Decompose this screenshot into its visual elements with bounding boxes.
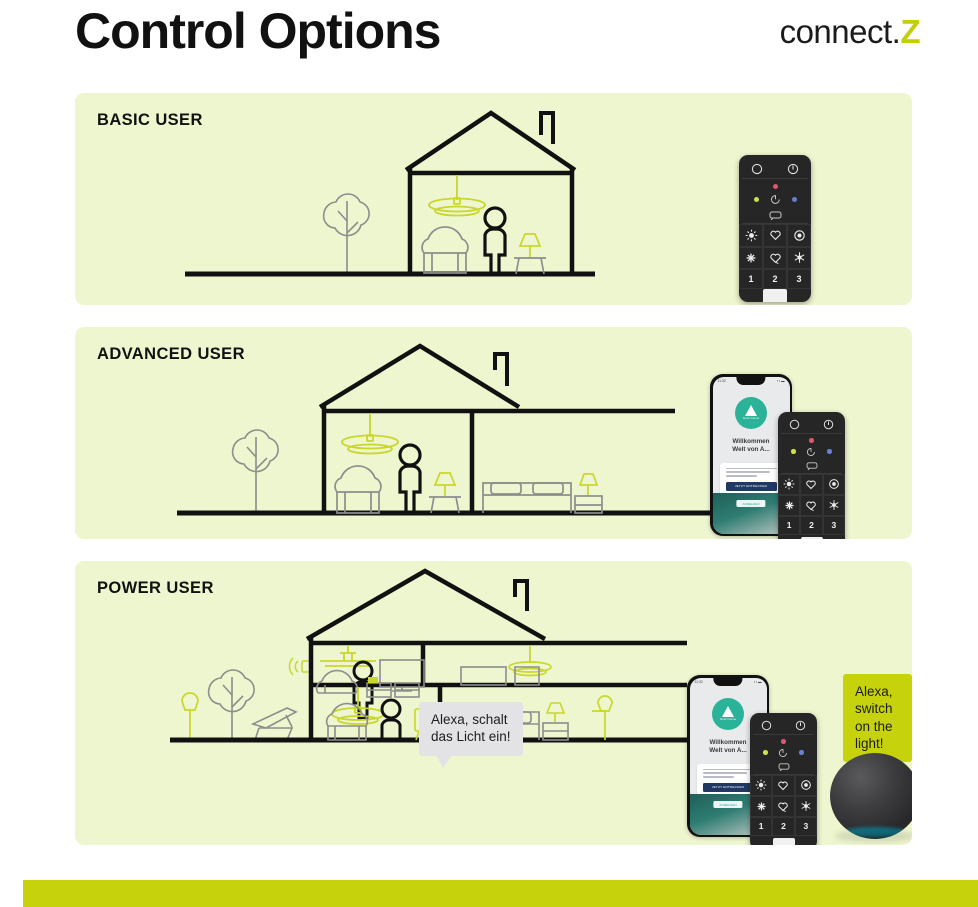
nightstand-lower-icon xyxy=(543,723,568,740)
echo-dot-body[interactable] xyxy=(830,753,912,839)
snowflake-icon xyxy=(800,800,812,812)
snowflake-button[interactable] xyxy=(823,495,845,516)
text-line xyxy=(726,468,777,470)
heart-button-1[interactable] xyxy=(772,775,794,796)
remote-color-dots[interactable] xyxy=(778,434,845,473)
remote-top-row[interactable] xyxy=(750,717,817,734)
heart-button-2[interactable] xyxy=(763,247,787,270)
plus-icon xyxy=(756,801,767,812)
armchair-icon xyxy=(422,227,468,273)
plus-icon xyxy=(745,252,757,264)
heart-minus-icon xyxy=(805,500,817,511)
pendant-lamp-icon xyxy=(429,175,485,216)
nightstand-lamp-icon xyxy=(580,474,597,495)
app-logo-sub: Smart Home xyxy=(720,718,737,721)
nightstand-lamp-lower-icon xyxy=(547,703,564,722)
speech-bubble-english: Alexa, switch on the light! xyxy=(843,674,912,762)
lounge-chair-icon xyxy=(253,708,296,740)
chimney-icon xyxy=(541,113,553,144)
app-card-text xyxy=(726,468,777,477)
power-button-icon[interactable] xyxy=(823,419,834,430)
heart-minus-icon xyxy=(777,801,789,812)
person-figure-lower xyxy=(382,700,400,740)
number-button-1[interactable]: 1 xyxy=(750,817,772,836)
heart-minus-icon xyxy=(769,252,782,264)
app-logo-sub: Smart Home xyxy=(743,417,760,420)
outdoor-wall-lamp-icon xyxy=(592,696,612,740)
brand-logo-accent: Z xyxy=(900,13,920,50)
garden-lamp-icon xyxy=(182,693,198,740)
remote-top-row[interactable] xyxy=(778,416,845,433)
echo-dot-speaker[interactable] xyxy=(830,753,912,839)
number-button-2[interactable]: 2 xyxy=(800,516,822,535)
cycle-icon[interactable] xyxy=(770,194,781,205)
brand-logo-text: connect. xyxy=(780,13,901,50)
bottom-accent-bar xyxy=(23,880,978,907)
phone-notch xyxy=(736,377,765,385)
pendant-lamp-icon xyxy=(342,413,398,454)
dot-blue-icon[interactable] xyxy=(792,197,797,202)
plus-button[interactable] xyxy=(750,796,772,817)
snowflake-button[interactable] xyxy=(795,796,817,817)
tree-icon xyxy=(233,430,278,513)
wifi-sensor-icon xyxy=(289,658,310,675)
indicator-dot-red[interactable] xyxy=(773,184,778,189)
number-button-3[interactable]: 3 xyxy=(787,269,811,289)
dot-green-icon[interactable] xyxy=(763,750,768,755)
heart-icon xyxy=(769,229,782,241)
target-icon xyxy=(800,779,812,791)
status-icons: ▪ ▪ ▬ xyxy=(777,379,785,383)
remote-dot-row[interactable] xyxy=(778,447,845,457)
dot-blue-icon[interactable] xyxy=(827,449,832,454)
status-icons: ▪ ▪ ▬ xyxy=(754,680,762,684)
cycle-icon[interactable] xyxy=(778,748,788,758)
table-lamp-icon xyxy=(435,473,455,496)
rectangle-loop-icon[interactable] xyxy=(778,762,790,771)
sun-icon xyxy=(755,779,767,791)
target-icon xyxy=(828,478,840,490)
app-logo-icon: Smart Home xyxy=(712,698,744,730)
sun-button[interactable] xyxy=(778,474,800,495)
person-figure xyxy=(485,208,505,274)
remote-control-power[interactable]: 1 2 3 xyxy=(750,713,817,845)
sun-button[interactable] xyxy=(739,224,763,247)
status-time: 11:32 xyxy=(695,680,703,684)
circle-button-icon[interactable] xyxy=(751,163,763,175)
remote-label-pad xyxy=(773,838,795,845)
plus-button[interactable] xyxy=(739,247,763,270)
heart-button-1[interactable] xyxy=(800,474,822,495)
app-logo-mark xyxy=(745,405,757,416)
number-button-1[interactable]: 1 xyxy=(739,269,763,289)
app-card-text xyxy=(703,769,754,778)
remote-control-advanced[interactable]: 1 2 3 xyxy=(778,412,845,539)
sun-button[interactable] xyxy=(750,775,772,796)
heart-button-1[interactable] xyxy=(763,224,787,247)
chimney-icon xyxy=(495,354,507,386)
target-button[interactable] xyxy=(787,224,811,247)
remote-bottom-area xyxy=(739,289,811,302)
snowflake-icon xyxy=(793,251,806,264)
tv-icon xyxy=(380,660,424,691)
snowflake-icon xyxy=(828,499,840,511)
remote-bottom-area xyxy=(750,836,817,846)
nightstand-icon xyxy=(575,496,602,513)
shelf-light-icon xyxy=(368,677,378,683)
armchair-icon xyxy=(335,466,381,513)
remote-control-basic[interactable]: 1 2 3 xyxy=(739,155,811,302)
remote-button-grid[interactable]: 1 2 3 xyxy=(778,474,845,535)
text-line xyxy=(726,471,771,473)
text-line xyxy=(703,776,735,778)
indicator-dot-red[interactable] xyxy=(781,739,786,744)
text-line xyxy=(703,772,748,774)
app-cta-button[interactable]: JETZT ENTDECKEN xyxy=(703,783,754,792)
tree-icon xyxy=(209,670,254,740)
number-button-3[interactable]: 3 xyxy=(823,516,845,535)
number-button-3[interactable]: 3 xyxy=(795,817,817,836)
app-cta-button[interactable]: JETZT ENTDECKEN xyxy=(726,482,777,491)
snowflake-button[interactable] xyxy=(787,247,811,270)
page-title: Control Options xyxy=(75,2,441,60)
circle-button-icon[interactable] xyxy=(789,419,800,430)
house-outline xyxy=(406,113,575,274)
indicator-dot-red[interactable] xyxy=(809,438,814,443)
cycle-icon[interactable] xyxy=(806,447,816,457)
text-line xyxy=(703,769,754,771)
power-button-icon[interactable] xyxy=(795,720,806,731)
plus-button[interactable] xyxy=(778,495,800,516)
app-logo-mark xyxy=(722,706,734,717)
remote-button-grid[interactable]: 1 2 3 xyxy=(739,224,811,289)
target-button[interactable] xyxy=(795,775,817,796)
panel-advanced-user[interactable]: ADVANCED USER xyxy=(75,327,912,539)
dot-green-icon[interactable] xyxy=(791,449,796,454)
poster-root: Control Options connect.Z BASIC USER xyxy=(0,0,978,907)
circle-button-icon[interactable] xyxy=(761,720,772,731)
armchair-icon-upper xyxy=(317,671,358,693)
app-secondary-button[interactable]: ANMELDEN xyxy=(736,500,765,507)
remote-label-pad xyxy=(801,537,823,539)
speech-bubble-german: Alexa, schalt das Licht ein! xyxy=(419,702,523,756)
app-logo-icon: Smart Home xyxy=(735,397,767,429)
person-figure xyxy=(400,445,420,513)
sun-icon xyxy=(783,478,795,490)
target-button[interactable] xyxy=(823,474,845,495)
remote-label-pad xyxy=(763,289,787,302)
heart-button-2[interactable] xyxy=(772,796,794,817)
heart-icon xyxy=(777,780,789,791)
heart-icon xyxy=(805,479,817,490)
remote-dot-row[interactable] xyxy=(750,748,817,758)
header: Control Options connect.Z xyxy=(0,0,978,88)
chimney-icon xyxy=(515,581,527,611)
power-button-icon[interactable] xyxy=(787,163,799,175)
number-button-1[interactable]: 1 xyxy=(778,516,800,535)
text-line xyxy=(726,475,758,477)
number-button-2[interactable]: 2 xyxy=(763,269,787,289)
panel-power-user[interactable]: POWER USER xyxy=(75,561,912,845)
app-secondary-button[interactable]: ANMELDEN xyxy=(713,801,742,808)
dot-green-icon[interactable] xyxy=(754,197,759,202)
remote-button-grid[interactable]: 1 2 3 xyxy=(750,775,817,836)
table-lamp-icon xyxy=(520,234,540,257)
brand-logo: connect.Z xyxy=(780,13,920,51)
number-button-2[interactable]: 2 xyxy=(772,817,794,836)
rectangle-loop-icon[interactable] xyxy=(806,461,818,470)
status-time: 11:32 xyxy=(718,379,726,383)
remote-bottom-area xyxy=(778,535,845,540)
heart-button-2[interactable] xyxy=(800,495,822,516)
tree-icon xyxy=(324,194,369,274)
remote-color-dots[interactable] xyxy=(750,735,817,774)
dot-blue-icon[interactable] xyxy=(799,750,804,755)
remote-top-row[interactable] xyxy=(739,160,811,178)
panel-basic-user[interactable]: BASIC USER xyxy=(75,93,912,305)
bed-icon xyxy=(483,483,571,513)
remote-color-dots[interactable] xyxy=(739,179,811,223)
remote-dot-row[interactable] xyxy=(739,194,811,205)
rectangle-loop-icon[interactable] xyxy=(769,210,782,220)
phone-notch xyxy=(713,678,742,686)
sun-icon xyxy=(745,229,758,242)
target-icon xyxy=(793,229,806,242)
plus-icon xyxy=(784,500,795,511)
house-outline xyxy=(320,346,675,513)
